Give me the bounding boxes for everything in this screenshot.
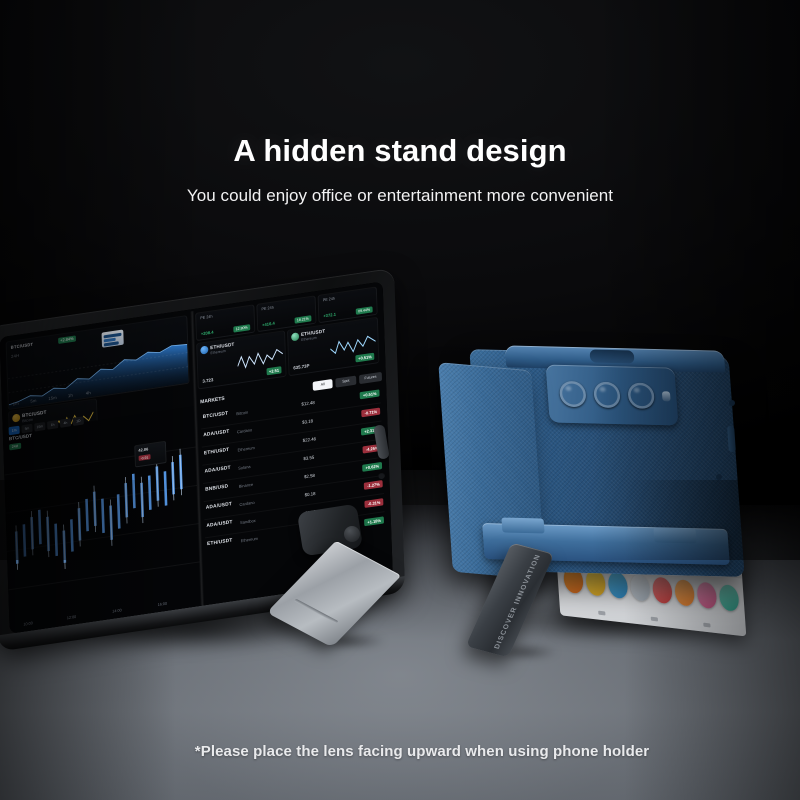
page-subtitle: You could enjoy office or entertainment …: [0, 186, 800, 206]
disclaimer-text: *Please place the lens facing upward whe…: [151, 743, 649, 760]
marketing-image: BTC/USDT +2.84% 24H: [0, 0, 800, 800]
wall-vignette: [0, 0, 800, 560]
page-title: A hidden stand design: [0, 133, 800, 169]
disclaimer-note: *Please place the lens facing upward whe…: [0, 743, 800, 760]
